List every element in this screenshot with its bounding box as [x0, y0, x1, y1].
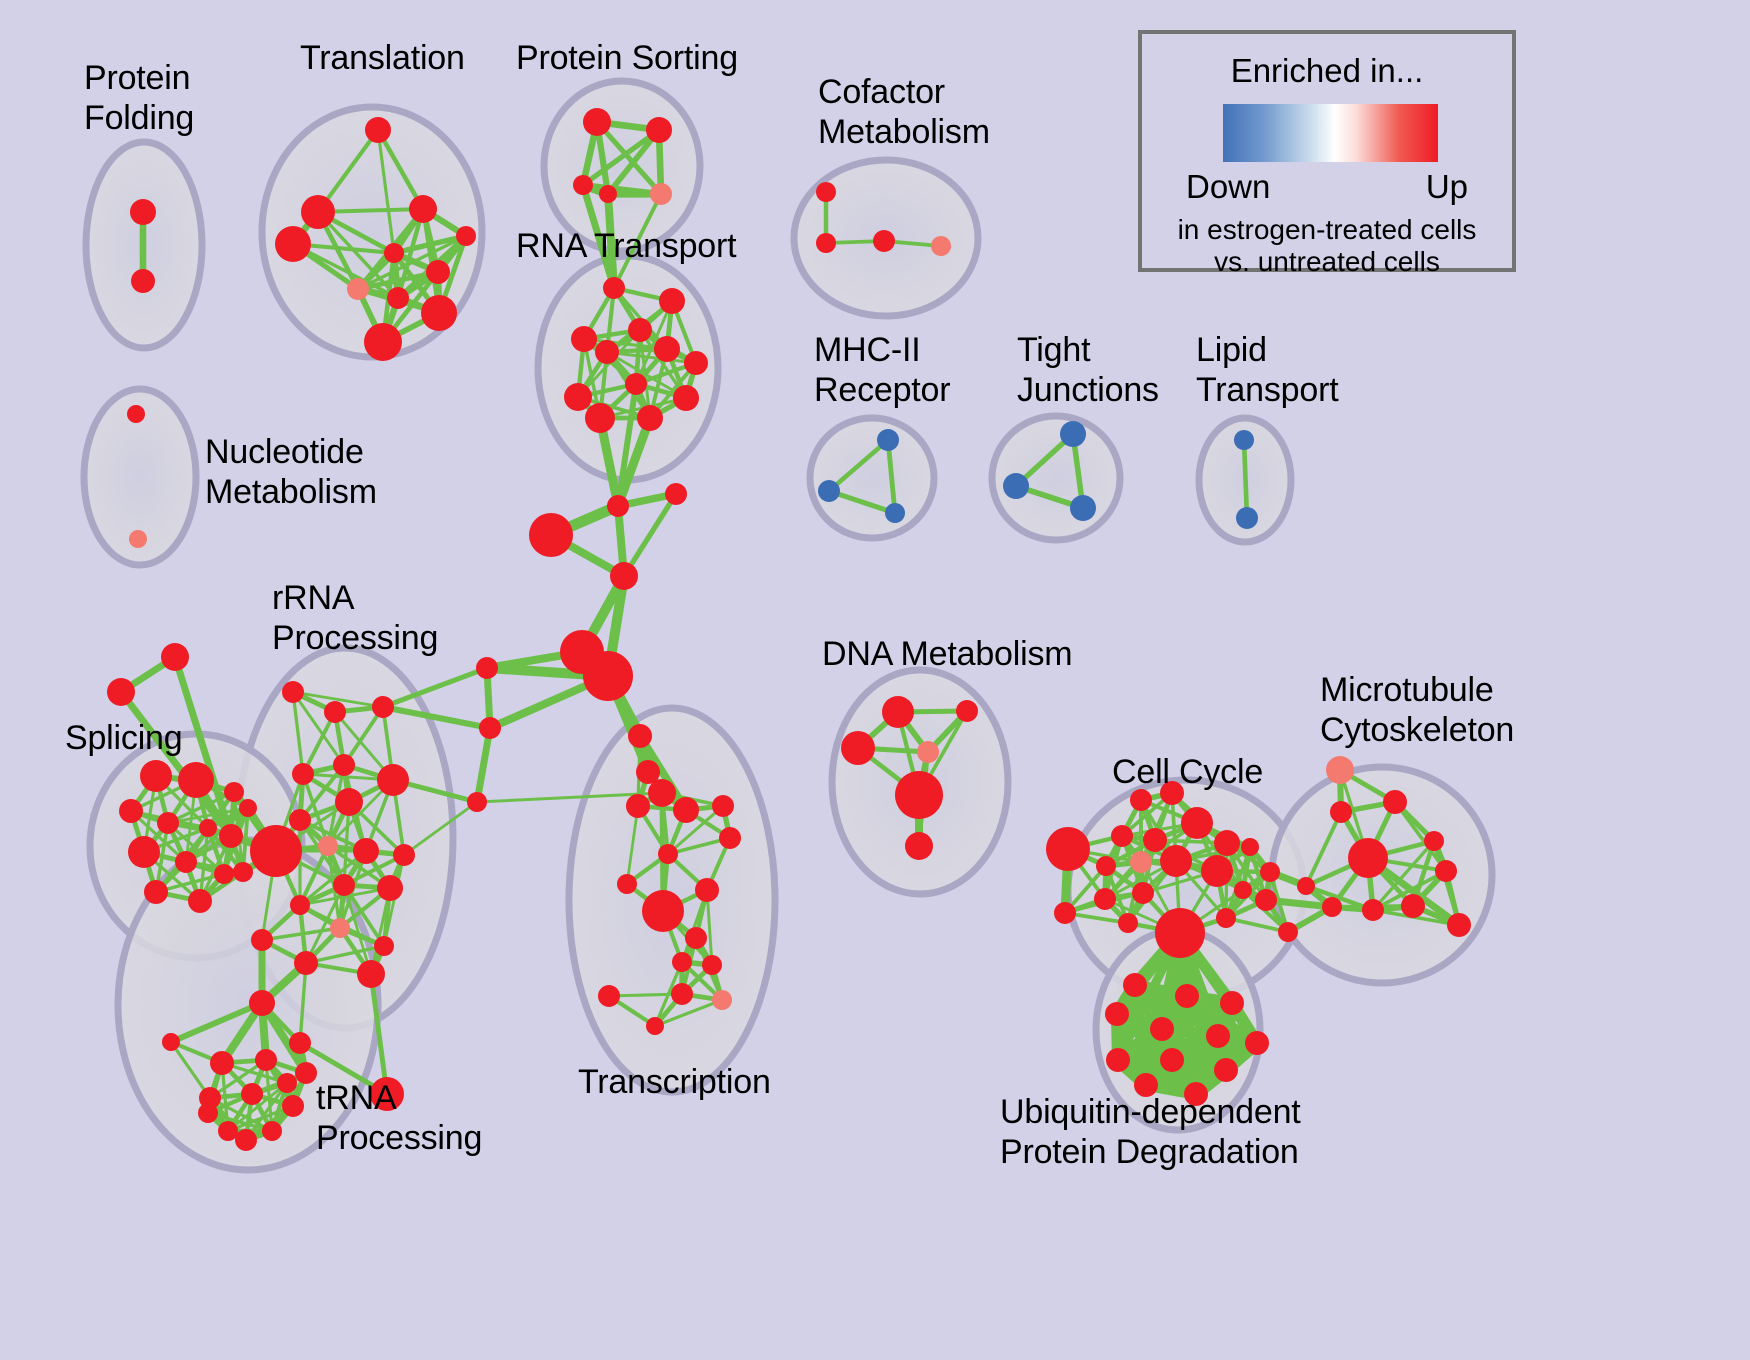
network-node-rrna-processing[interactable] [250, 825, 302, 877]
legend-title: Enriched in... [1142, 52, 1512, 90]
network-node-trna-processing[interactable] [277, 1073, 297, 1093]
network-node-microtubule-cytoskeleton[interactable] [1322, 897, 1342, 917]
network-node-rna-transport[interactable] [564, 383, 592, 411]
network-node-microtubule-cytoskeleton[interactable] [1424, 831, 1444, 851]
network-node-dna-metabolism[interactable] [956, 700, 978, 722]
network-node-cell-cycle[interactable] [1201, 855, 1233, 887]
network-node-microtubule-cytoskeleton[interactable] [1297, 877, 1315, 895]
network-node-translation[interactable] [365, 117, 391, 143]
network-node-rna-transport[interactable] [595, 340, 619, 364]
network-edge [477, 728, 490, 802]
network-node-splicing[interactable] [199, 819, 217, 837]
network-node-dna-metabolism[interactable] [905, 832, 933, 860]
network-node-rrna-processing[interactable] [289, 809, 311, 831]
network-node-splicing[interactable] [119, 799, 143, 823]
network-node-tight-junctions[interactable] [1070, 495, 1096, 521]
network-node-splicing[interactable] [214, 864, 234, 884]
legend-up-label: Up [1426, 168, 1468, 206]
network-node-microtubule-cytoskeleton[interactable] [1401, 894, 1425, 918]
network-node-rrna-processing[interactable] [374, 936, 394, 956]
network-node-transcription[interactable] [671, 983, 693, 1005]
network-node-splicing[interactable] [128, 836, 160, 868]
cluster-label-translation: Translation [300, 38, 465, 78]
network-node-splicing[interactable] [224, 782, 244, 802]
network-node-rrna-processing[interactable] [353, 838, 379, 864]
legend-color-bar [1223, 104, 1438, 162]
network-node-protein-sorting[interactable] [573, 175, 593, 195]
network-node-rrna-processing[interactable] [393, 844, 415, 866]
network-node-lipid-transport[interactable] [1234, 430, 1254, 450]
network-node-ubiquitin-degradation[interactable] [1220, 991, 1244, 1015]
network-node-microtubule-cytoskeleton[interactable] [1348, 838, 1388, 878]
cluster-label-protein-sorting: Protein Sorting [516, 38, 738, 78]
network-node-transcription[interactable] [642, 890, 684, 932]
network-node-ubiquitin-degradation[interactable] [1160, 1048, 1184, 1072]
network-node-dna-metabolism[interactable] [841, 731, 875, 765]
network-node-microtubule-cytoskeleton[interactable] [1435, 860, 1457, 882]
network-node-transcription[interactable] [628, 724, 652, 748]
network-node-nucleotide-metabolism[interactable] [129, 530, 147, 548]
network-node-ubiquitin-degradation[interactable] [1150, 1017, 1174, 1041]
cluster-label-ubiquitin-degradation: Ubiquitin-dependent Protein Degradation [1000, 1092, 1301, 1172]
network-node-ubiquitin-degradation[interactable] [1175, 984, 1199, 1008]
network-node-rrna-processing[interactable] [330, 918, 350, 938]
network-node-nucleotide-metabolism[interactable] [127, 405, 145, 423]
network-node-rrna-processing[interactable] [251, 929, 273, 951]
cluster-hull-mhc-ii-receptor [810, 418, 934, 538]
network-node-rrna-processing[interactable] [377, 764, 409, 796]
network-node-trna-processing[interactable] [262, 1121, 282, 1141]
network-node-translation[interactable] [301, 195, 335, 229]
network-node-splicing[interactable] [107, 678, 135, 706]
network-node-trna-processing[interactable] [282, 1095, 304, 1117]
network-node-splicing[interactable] [144, 880, 168, 904]
cluster-label-nucleotide-metabolism: Nucleotide Metabolism [205, 432, 377, 512]
network-node-translation[interactable] [421, 295, 457, 331]
network-node-transcription[interactable] [672, 952, 692, 972]
network-node-lipid-transport[interactable] [1236, 507, 1258, 529]
network-node-cell-cycle[interactable] [1111, 825, 1133, 847]
network-node-ubiquitin-degradation[interactable] [1214, 1058, 1238, 1082]
network-node-splicing[interactable] [175, 851, 197, 873]
cluster-label-tight-junctions: Tight Junctions [1017, 330, 1159, 410]
network-node-translation[interactable] [426, 260, 450, 284]
cluster-label-mhc-ii-receptor: MHC-II Receptor [814, 330, 950, 410]
network-node-rrna-processing[interactable] [476, 657, 498, 679]
network-node-translation[interactable] [364, 323, 402, 361]
network-node-cell-cycle[interactable] [1046, 827, 1090, 871]
network-node-dna-metabolism[interactable] [895, 771, 943, 819]
cluster-label-lipid-transport: Lipid Transport [1196, 330, 1338, 410]
network-node-mhc-ii-receptor[interactable] [877, 429, 899, 451]
network-node-cell-cycle[interactable] [1214, 830, 1240, 856]
network-node-dna-metabolism[interactable] [917, 741, 939, 763]
cluster-label-cofactor-metabolism: Cofactor Metabolism [818, 72, 990, 152]
network-node-translation[interactable] [456, 226, 476, 246]
network-node-rrna-processing[interactable] [357, 960, 385, 988]
network-node-cell-cycle[interactable] [1132, 882, 1154, 904]
network-node-rrna-processing[interactable] [318, 836, 338, 856]
network-node-rrna-processing[interactable] [294, 951, 318, 975]
network-node-trna-processing[interactable] [210, 1051, 234, 1075]
network-node-chain[interactable] [607, 495, 629, 517]
network-node-cofactor-metabolism[interactable] [816, 233, 836, 253]
network-node-rna-transport[interactable] [654, 336, 680, 362]
network-node-cell-cycle[interactable] [1130, 851, 1152, 873]
network-node-trna-processing[interactable] [198, 1103, 218, 1123]
network-node-protein-sorting[interactable] [583, 108, 611, 136]
network-node-ubiquitin-degradation[interactable] [1106, 1048, 1130, 1072]
network-node-rna-transport[interactable] [673, 385, 699, 411]
network-node-cell-cycle[interactable] [1160, 845, 1192, 877]
network-node-transcription[interactable] [695, 878, 719, 902]
network-node-protein-sorting[interactable] [650, 183, 672, 205]
network-node-rna-transport[interactable] [659, 288, 685, 314]
network-node-mhc-ii-receptor[interactable] [885, 503, 905, 523]
network-node-ubiquitin-degradation[interactable] [1245, 1031, 1269, 1055]
network-node-transcription[interactable] [685, 927, 707, 949]
network-node-protein-folding[interactable] [131, 269, 155, 293]
network-node-transcription[interactable] [712, 990, 732, 1010]
network-node-translation[interactable] [275, 226, 311, 262]
network-node-cell-cycle[interactable] [1234, 881, 1252, 899]
network-node-rrna-processing[interactable] [372, 696, 394, 718]
network-node-transcription[interactable] [719, 827, 741, 849]
network-node-cell-cycle[interactable] [1143, 828, 1167, 852]
network-node-rrna-processing[interactable] [467, 792, 487, 812]
legend-box: Enriched in... Down Up in estrogen-treat… [1138, 30, 1516, 272]
network-node-transcription[interactable] [712, 795, 734, 817]
network-node-translation[interactable] [384, 243, 404, 263]
network-node-transcription[interactable] [658, 844, 678, 864]
network-node-cell-cycle[interactable] [1054, 902, 1076, 924]
network-node-trna-processing[interactable] [162, 1033, 180, 1051]
cluster-label-cell-cycle: Cell Cycle [1112, 752, 1263, 792]
network-node-splicing[interactable] [157, 812, 179, 834]
network-edge [1244, 440, 1247, 518]
network-node-rrna-processing[interactable] [292, 763, 314, 785]
network-node-splicing[interactable] [140, 760, 172, 792]
network-node-rna-transport[interactable] [585, 403, 615, 433]
network-node-translation[interactable] [347, 278, 369, 300]
network-node-splicing[interactable] [219, 824, 243, 848]
network-node-cell-cycle[interactable] [1260, 862, 1280, 882]
network-node-cell-cycle[interactable] [1255, 889, 1277, 911]
network-node-protein-sorting[interactable] [599, 185, 617, 203]
cluster-label-microtubule-cytoskeleton: Microtubule Cytoskeleton [1320, 670, 1514, 750]
legend-down-label: Down [1186, 168, 1270, 206]
network-node-rna-transport[interactable] [684, 351, 708, 375]
network-node-rrna-processing[interactable] [290, 895, 310, 915]
network-node-microtubule-cytoskeleton[interactable] [1447, 913, 1471, 937]
network-node-rrna-processing[interactable] [249, 990, 275, 1016]
network-node-transcription[interactable] [598, 985, 620, 1007]
network-node-rna-transport[interactable] [625, 373, 647, 395]
network-node-microtubule-cytoskeleton[interactable] [1362, 899, 1384, 921]
network-node-mhc-ii-receptor[interactable] [818, 480, 840, 502]
network-node-chain[interactable] [665, 483, 687, 505]
network-node-transcription[interactable] [673, 797, 699, 823]
network-node-ubiquitin-degradation[interactable] [1105, 1002, 1129, 1026]
network-node-chain[interactable] [529, 513, 573, 557]
network-node-cell-cycle[interactable] [1181, 807, 1213, 839]
network-node-microtubule-cytoskeleton[interactable] [1330, 801, 1352, 823]
network-node-splicing[interactable] [178, 762, 214, 798]
network-node-cell-cycle[interactable] [1118, 913, 1138, 933]
network-node-tight-junctions[interactable] [1060, 421, 1086, 447]
network-node-rrna-processing[interactable] [282, 681, 304, 703]
network-node-rna-transport[interactable] [571, 326, 597, 352]
figure-canvas: Protein FoldingTranslationProtein Sortin… [0, 0, 1750, 1360]
network-node-cofactor-metabolism[interactable] [873, 230, 895, 252]
cluster-label-transcription: Transcription [578, 1062, 771, 1102]
network-node-rna-transport[interactable] [637, 405, 663, 431]
network-node-protein-sorting[interactable] [646, 117, 672, 143]
network-node-dna-metabolism[interactable] [882, 696, 914, 728]
network-node-rna-transport[interactable] [628, 318, 652, 342]
cluster-label-trna-processing: tRNA Processing [316, 1078, 482, 1158]
network-node-splicing[interactable] [233, 862, 253, 882]
network-node-transcription[interactable] [626, 794, 650, 818]
network-node-translation[interactable] [387, 287, 409, 309]
network-node-cell-cycle[interactable] [1216, 908, 1236, 928]
network-node-trna-processing[interactable] [235, 1129, 257, 1151]
legend-subtitle-line2: vs. untreated cells [1142, 246, 1512, 278]
network-node-ubiquitin-degradation[interactable] [1123, 973, 1147, 997]
network-node-transcription[interactable] [646, 1017, 664, 1035]
network-node-ubiquitin-degradation[interactable] [1206, 1024, 1230, 1048]
network-node-rrna-processing[interactable] [335, 788, 363, 816]
network-node-microtubule-cytoskeleton[interactable] [1383, 790, 1407, 814]
cluster-label-dna-metabolism: DNA Metabolism [822, 634, 1072, 674]
network-node-chain[interactable] [583, 651, 633, 701]
network-node-rrna-processing[interactable] [333, 754, 355, 776]
network-node-trna-processing[interactable] [218, 1121, 238, 1141]
network-node-rrna-processing[interactable] [377, 875, 403, 901]
network-node-trna-processing[interactable] [255, 1049, 277, 1071]
network-node-splicing[interactable] [161, 643, 189, 671]
network-node-trna-processing[interactable] [241, 1083, 263, 1105]
network-node-rrna-processing[interactable] [479, 717, 501, 739]
network-node-rrna-processing[interactable] [289, 1032, 311, 1054]
network-node-rrna-processing[interactable] [324, 701, 346, 723]
network-node-cell-cycle[interactable] [1155, 908, 1205, 958]
network-node-cell-cycle[interactable] [1241, 838, 1259, 856]
network-node-cofactor-metabolism[interactable] [931, 236, 951, 256]
network-node-chain[interactable] [610, 562, 638, 590]
network-node-protein-folding[interactable] [130, 199, 156, 225]
network-node-cell-cycle[interactable] [1130, 789, 1152, 811]
network-node-cell-cycle[interactable] [1096, 856, 1116, 876]
network-node-tight-junctions[interactable] [1003, 473, 1029, 499]
network-node-rrna-processing[interactable] [333, 874, 355, 896]
network-node-cell-cycle[interactable] [1094, 888, 1116, 910]
network-node-microtubule-cytoskeleton[interactable] [1326, 756, 1354, 784]
legend-subtitle-line1: in estrogen-treated cells [1142, 214, 1512, 246]
network-node-trna-processing[interactable] [295, 1062, 317, 1084]
network-node-splicing[interactable] [188, 889, 212, 913]
network-node-transcription[interactable] [702, 955, 722, 975]
cluster-label-protein-folding: Protein Folding [84, 58, 194, 138]
cluster-label-rrna-processing: rRNA Processing [272, 578, 438, 658]
network-node-cell-cycle[interactable] [1278, 922, 1298, 942]
network-node-cofactor-metabolism[interactable] [816, 182, 836, 202]
network-node-transcription[interactable] [648, 779, 676, 807]
network-node-rna-transport[interactable] [603, 277, 625, 299]
network-node-splicing[interactable] [239, 799, 257, 817]
network-node-transcription[interactable] [617, 874, 637, 894]
cluster-label-rna-transport: RNA Transport [516, 226, 736, 266]
cluster-label-splicing: Splicing [65, 718, 182, 758]
network-node-translation[interactable] [409, 195, 437, 223]
